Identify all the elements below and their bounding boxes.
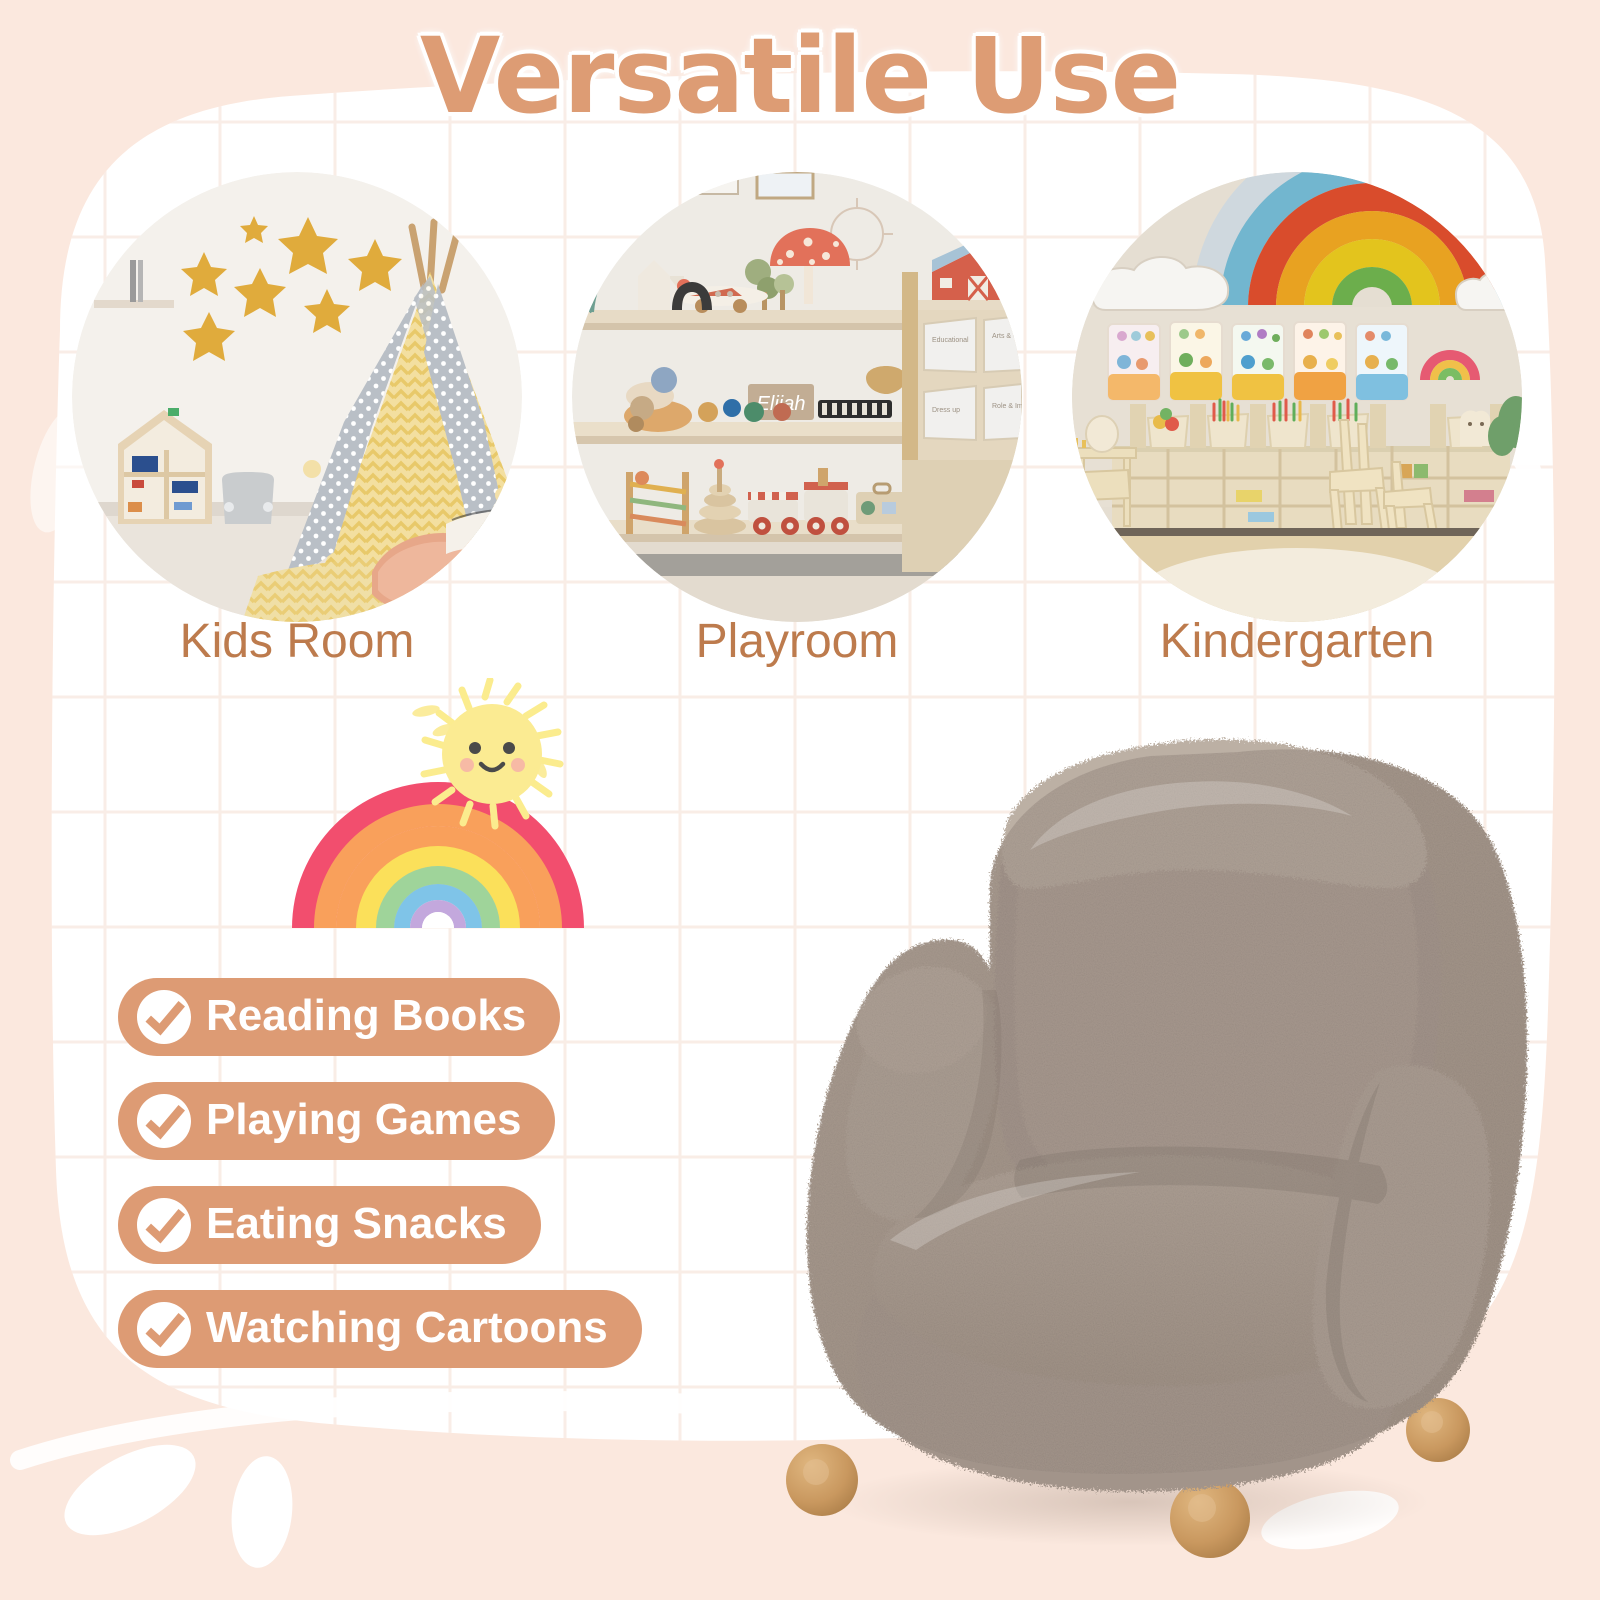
scene-label-kids-room: Kids Room bbox=[72, 614, 522, 669]
feature-list: Reading Books Playing Games Eating Snack… bbox=[118, 978, 642, 1394]
marketing-image: Versatile Use bbox=[0, 0, 1600, 1600]
kids-sherpa-armchair bbox=[690, 690, 1590, 1570]
kids-room-photo bbox=[72, 172, 522, 622]
check-circle-icon bbox=[136, 1197, 192, 1253]
rainbow-sun-illustration bbox=[278, 678, 598, 928]
svg-text:Educational: Educational bbox=[932, 337, 969, 344]
scene-label-kindergarten: Kindergarten bbox=[1072, 614, 1522, 669]
svg-text:Dress up: Dress up bbox=[932, 407, 960, 414]
check-circle-icon bbox=[136, 989, 192, 1045]
svg-text:Arts & Crafts: Arts & Crafts bbox=[992, 333, 1022, 340]
check-circle-icon bbox=[136, 1301, 192, 1357]
scene-photo-playroom[interactable]: Elijah bbox=[572, 172, 1022, 622]
playroom-photo: Elijah bbox=[572, 172, 1022, 622]
feature-label: Watching Cartoons bbox=[206, 1306, 608, 1350]
svg-text:Role & Imagine: Role & Imagine bbox=[992, 403, 1022, 410]
feature-pill-watching-cartoons[interactable]: Watching Cartoons bbox=[118, 1290, 642, 1368]
scene-label-playroom: Playroom bbox=[572, 614, 1022, 669]
feature-label: Playing Games bbox=[206, 1098, 521, 1142]
feature-label: Eating Snacks bbox=[206, 1202, 507, 1246]
scene-photo-kindergarten[interactable] bbox=[1072, 172, 1522, 622]
kindergarten-photo bbox=[1072, 172, 1522, 622]
feature-pill-eating-snacks[interactable]: Eating Snacks bbox=[118, 1186, 541, 1264]
product-image-armchair bbox=[690, 690, 1590, 1570]
check-circle-icon bbox=[136, 1093, 192, 1149]
feature-pill-playing-games[interactable]: Playing Games bbox=[118, 1082, 555, 1160]
feature-label: Reading Books bbox=[206, 994, 526, 1038]
scene-photo-kids-room[interactable] bbox=[72, 172, 522, 622]
feature-pill-reading-books[interactable]: Reading Books bbox=[118, 978, 560, 1056]
rainbow-sun-icon bbox=[278, 678, 598, 928]
page-title: Versatile Use bbox=[0, 22, 1600, 131]
